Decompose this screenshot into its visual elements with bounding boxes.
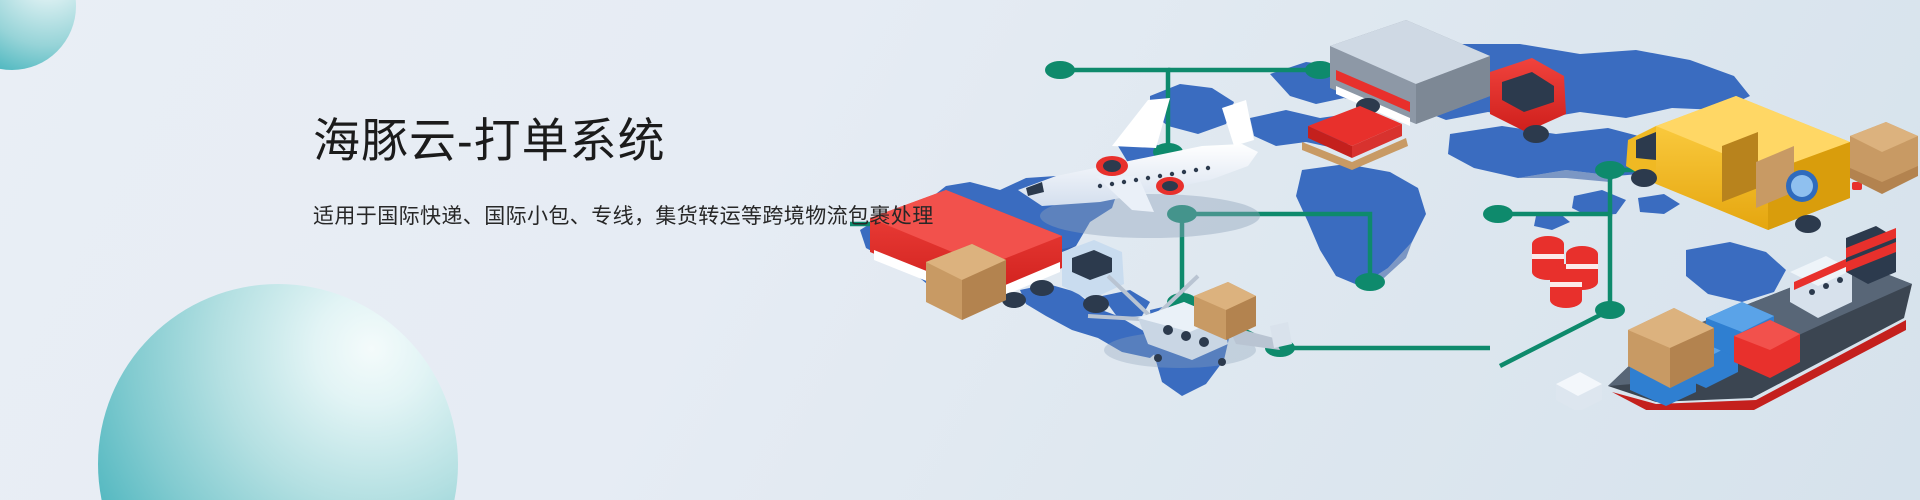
red-barrels-icon [1532, 236, 1598, 308]
page-subtitle: 适用于国际快递、国际小包、专线，集货转运等跨境物流包裹处理 [313, 202, 934, 231]
decorative-circle-top-left [0, 0, 76, 70]
decorative-circle-bottom-left [98, 284, 458, 500]
hero-banner: 海豚云-打单系统 适用于国际快递、国际小包、专线，集货转运等跨境物流包裹处理 [0, 0, 1920, 500]
page-title: 海豚云-打单系统 [313, 112, 934, 170]
banner-copy: 海豚云-打单系统 适用于国际快递、国际小包、专线，集货转运等跨境物流包裹处理 [313, 112, 934, 232]
global-logistics-illustration [850, 0, 1920, 410]
yellow-delivery-van-icon [1626, 96, 1918, 233]
